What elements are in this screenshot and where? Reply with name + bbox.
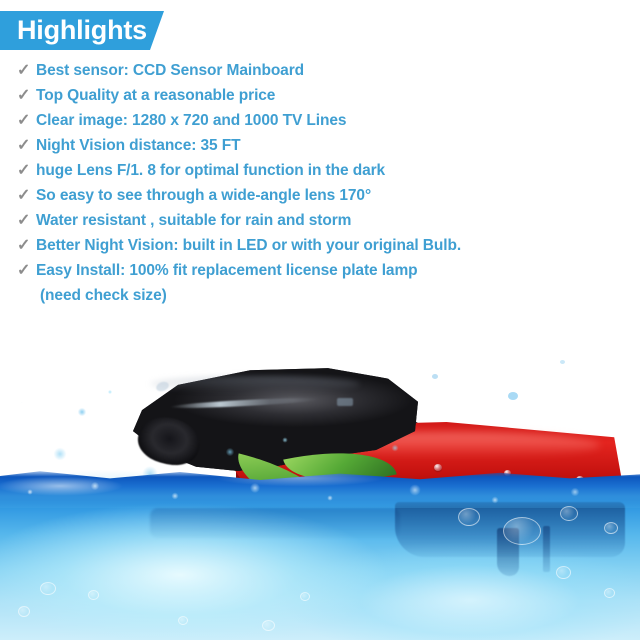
check-icon: ✓	[17, 133, 36, 158]
product-photo	[0, 330, 640, 640]
air-bubble	[18, 606, 30, 617]
air-bubble	[262, 620, 275, 631]
feature-text: Top Quality at a reasonable price	[36, 83, 632, 108]
air-bubble	[458, 508, 480, 526]
highlights-banner: Highlights	[0, 11, 172, 50]
air-bubble	[556, 566, 571, 579]
air-bubble	[300, 592, 310, 601]
air-bubble	[604, 588, 615, 598]
water-droplet	[432, 374, 438, 379]
list-item: ✓ huge Lens F/1. 8 for optimal function …	[17, 158, 632, 183]
list-item: ✓ Water resistant , suitable for rain an…	[17, 208, 632, 233]
housing-top-gloss	[150, 376, 360, 392]
air-bubble	[178, 616, 188, 625]
list-item: ✓ Better Night Vision: built in LED or w…	[17, 233, 632, 258]
air-bubble	[604, 522, 618, 534]
feature-text: Best sensor: CCD Sensor Mainboard	[36, 58, 632, 83]
list-item: ✓ Easy Install: 100% fit replacement lic…	[17, 258, 632, 283]
feature-text: Easy Install: 100% fit replacement licen…	[36, 258, 632, 283]
submerged-stem	[543, 526, 550, 572]
feature-text: Water resistant , suitable for rain and …	[36, 208, 632, 233]
housing-marking	[337, 398, 353, 406]
highlights-feature-list: ✓ Best sensor: CCD Sensor Mainboard ✓ To…	[17, 58, 632, 308]
air-bubble	[560, 506, 578, 521]
feature-text: So easy to see through a wide-angle lens…	[36, 183, 632, 208]
list-item: ✓ Night Vision distance: 35 FT	[17, 133, 632, 158]
water-droplet	[560, 360, 565, 364]
check-icon: ✓	[17, 208, 36, 233]
water-surface-foam	[0, 480, 640, 524]
check-icon: ✓	[17, 83, 36, 108]
list-item: ✓ Best sensor: CCD Sensor Mainboard	[17, 58, 632, 83]
list-item: ✓ So easy to see through a wide-angle le…	[17, 183, 632, 208]
list-item: ✓ Clear image: 1280 x 720 and 1000 TV Li…	[17, 108, 632, 133]
list-item: (need check size)	[17, 283, 632, 308]
feature-text: Better Night Vision: built in LED or wit…	[36, 233, 632, 258]
check-icon: ✓	[17, 158, 36, 183]
check-icon: ✓	[17, 183, 36, 208]
feature-text: huge Lens F/1. 8 for optimal function in…	[36, 158, 632, 183]
water-droplet	[508, 392, 518, 400]
check-icon: ✓	[17, 108, 36, 133]
feature-text: Night Vision distance: 35 FT	[36, 133, 632, 158]
list-item: ✓ Top Quality at a reasonable price	[17, 83, 632, 108]
check-icon: ✓	[17, 258, 36, 283]
feature-text: (need check size)	[36, 283, 632, 308]
air-bubble	[40, 582, 56, 595]
page-title: Highlights	[17, 16, 147, 43]
check-icon: ✓	[17, 58, 36, 83]
feature-text: Clear image: 1280 x 720 and 1000 TV Line…	[36, 108, 632, 133]
check-icon: ✓	[17, 233, 36, 258]
air-bubble	[503, 517, 541, 545]
air-bubble	[88, 590, 99, 600]
